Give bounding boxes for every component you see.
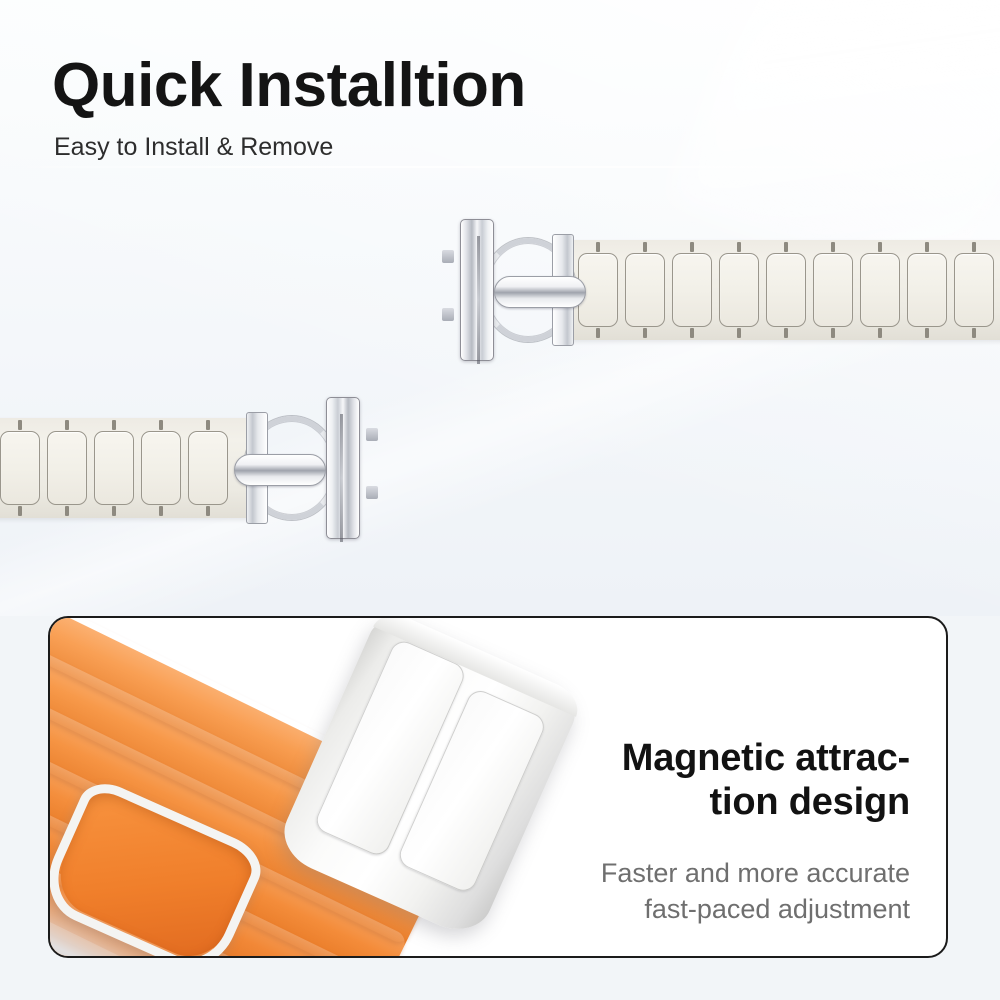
connector-pin-bar [494,276,586,308]
band-segment [907,253,947,327]
connector-lug-top [366,428,378,441]
connector-lug-top [442,250,454,263]
hero-section: Quick Installtion Easy to Install & Remo… [0,0,1000,616]
panel-heading: Magnetic attrac- tion design [490,736,910,825]
band-segment [954,253,994,327]
connector-lug-bottom [442,308,454,321]
connector-lug-bottom [366,486,378,499]
watch-band-lower [0,418,248,518]
watch-band-upper [564,240,1000,340]
feature-panel: Magnetic attrac- tion design Faster and … [48,616,948,958]
band-segment [94,431,134,505]
background-seam-line [0,166,1000,168]
band-segment [813,253,853,327]
connector-clip [460,219,494,361]
connector-pin-bar [234,454,326,486]
band-segment [625,253,665,327]
page-subtitle: Easy to Install & Remove [54,133,333,162]
band-connector-upper [452,210,582,370]
band-connector-lower [238,388,368,548]
page-title: Quick Installtion [52,50,526,121]
band-segment [141,431,181,505]
band-segment [766,253,806,327]
panel-subtext: Faster and more accurate fast-paced adju… [490,855,910,927]
band-segment [0,431,40,505]
connector-clip [326,397,360,539]
band-segment [47,431,87,505]
band-segment [719,253,759,327]
band-segment [672,253,712,327]
panel-text-block: Magnetic attrac- tion design Faster and … [490,736,910,927]
clip-groove [340,414,343,542]
band-segment [188,431,228,505]
band-segment [860,253,900,327]
clip-groove [477,236,480,364]
